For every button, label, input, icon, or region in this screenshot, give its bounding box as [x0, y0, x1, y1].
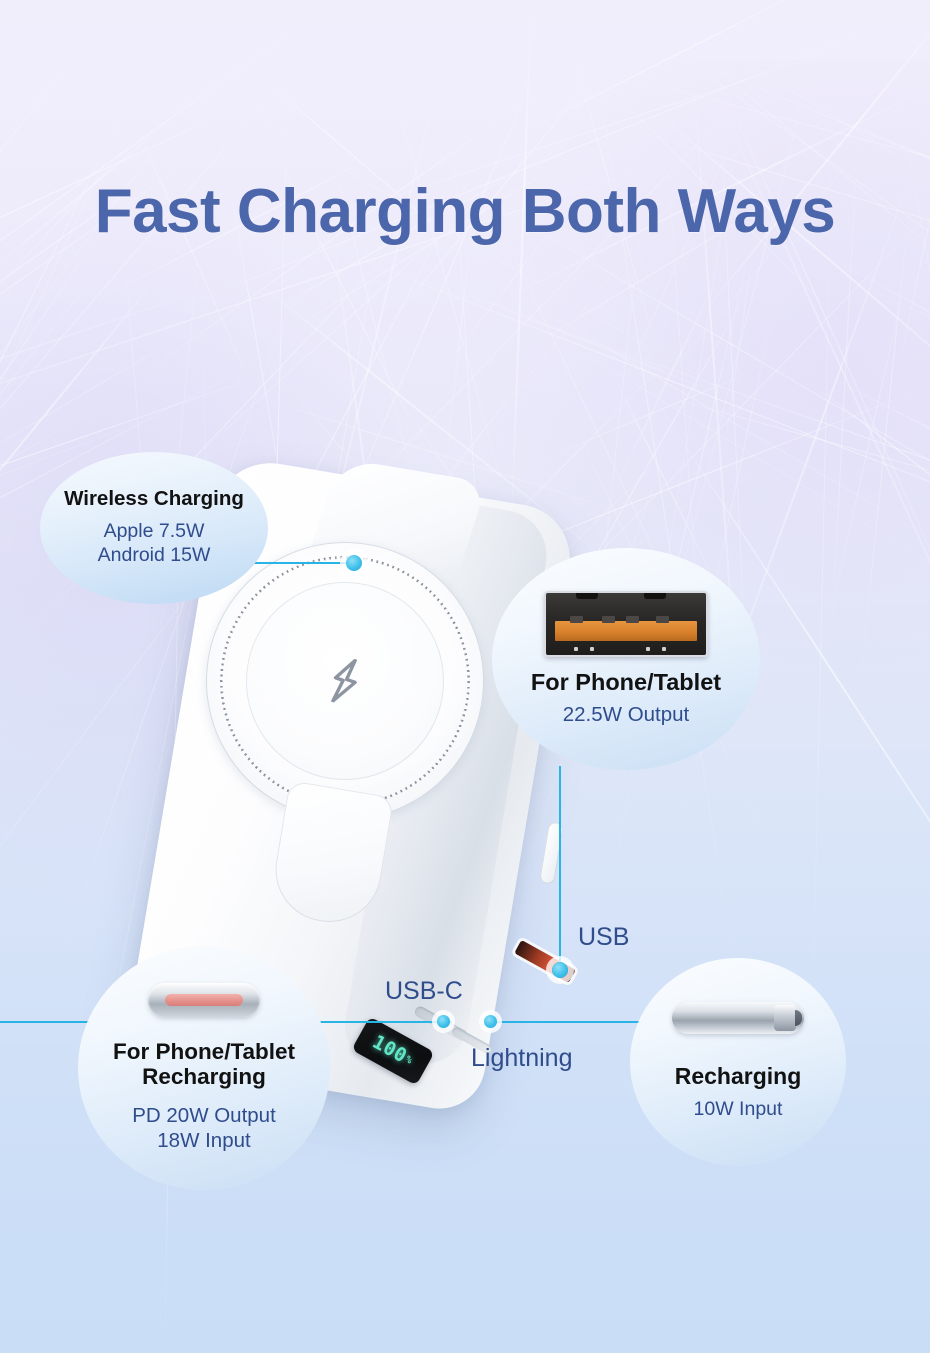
port-label-usb: USB	[578, 923, 629, 952]
connector-line-wireless	[250, 562, 354, 564]
connector-dot-lightning	[484, 1015, 497, 1028]
callout-usb-title: For Phone/Tablet	[531, 669, 721, 695]
lightning-bolt-icon	[321, 653, 369, 709]
port-label-usbc: USB-C	[385, 977, 463, 1006]
callout-lightning: Recharging 10W Input	[630, 958, 846, 1166]
callout-wireless-title: Wireless Charging	[64, 488, 244, 511]
callout-wireless-line-2: Android 15W	[98, 544, 211, 568]
callout-usbc-lines: PD 20W Output 18W Input	[132, 1103, 276, 1153]
lightning-port-icon	[672, 1002, 804, 1034]
usb-a-port-icon	[544, 591, 708, 657]
callout-lightning-line-1: 10W Input	[694, 1098, 783, 1122]
callout-usbc-title-line-2: Recharging	[113, 1064, 295, 1089]
connector-dot-wireless	[346, 555, 362, 571]
callout-lightning-title: Recharging	[675, 1064, 802, 1090]
callout-usb-c: For Phone/Tablet Recharging PD 20W Outpu…	[78, 946, 330, 1190]
callout-usbc-line-2: 18W Input	[132, 1128, 276, 1153]
connector-dot-usbc	[437, 1015, 450, 1028]
port-label-lightning: Lightning	[471, 1044, 572, 1073]
connector-line-lightning	[492, 1021, 652, 1023]
callout-usbc-title: For Phone/Tablet Recharging	[113, 1039, 295, 1089]
page-title: Fast Charging Both Ways	[0, 176, 930, 247]
callout-usbc-line-1: PD 20W Output	[132, 1103, 276, 1128]
callout-usb-line-1: 22.5W Output	[563, 702, 689, 727]
usb-c-port-icon	[148, 983, 260, 1017]
callout-wireless-lines: Apple 7.5W Android 15W	[98, 520, 211, 568]
connector-line-usb	[559, 766, 561, 970]
callout-usbc-title-line-1: For Phone/Tablet	[113, 1039, 295, 1064]
infographic-canvas: Fast Charging Both Ways 100%	[0, 0, 930, 1353]
usb-a-port-on-device	[514, 940, 575, 983]
callout-wireless-line-1: Apple 7.5W	[98, 520, 211, 544]
connector-dot-usb	[552, 962, 568, 978]
callout-wireless-charging: Wireless Charging Apple 7.5W Android 15W	[40, 452, 268, 604]
callout-usb: For Phone/Tablet 22.5W Output	[492, 548, 760, 770]
